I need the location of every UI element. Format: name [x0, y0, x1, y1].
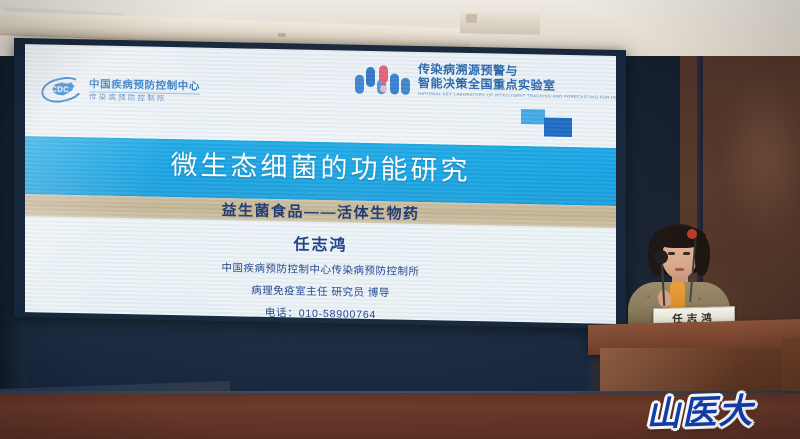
cdc-emblem-icon: CDC	[41, 76, 83, 103]
decorative-square-dark	[544, 117, 572, 137]
microphone-head-right	[687, 229, 697, 239]
projection-screen: CDC 中国疾病预防控制中心 传染病预防控制所	[14, 38, 626, 329]
cdc-acronym: CDC	[51, 86, 69, 94]
speaker-hair-right	[695, 236, 710, 276]
presentation-slide: CDC 中国疾病预防控制中心 传染病预防控制所	[25, 44, 616, 324]
decorative-square-light	[521, 109, 545, 124]
lab-bars-icon	[355, 62, 411, 95]
cdc-logo-line1: 中国疾病预防控制中心	[89, 79, 200, 92]
roller-marking	[278, 33, 286, 37]
cdc-logo-line2: 传染病预防控制所	[89, 93, 200, 103]
speaker-eye-right	[683, 252, 690, 255]
watermark: 山医大	[645, 383, 755, 436]
china-cdc-logo: CDC 中国疾病预防控制中心 传染病预防控制所	[41, 76, 200, 105]
microphone-head-left	[654, 250, 668, 264]
conference-photo-scene: CDC 中国疾病预防控制中心 传染病预防控制所	[0, 0, 800, 439]
speaker-mouth	[675, 268, 684, 271]
speaker-eye-left	[668, 252, 675, 255]
presenter-name: 任志鸿	[25, 225, 616, 261]
slide-header: CDC 中国疾病预防控制中心 传染病预防控制所	[25, 44, 616, 148]
roller-end-cap	[466, 14, 477, 23]
slide-body: 任志鸿 中国疾病预防控制中心传染病预防控制所 病理免疫室主任 研究员 博导 电话…	[25, 219, 616, 324]
national-key-lab-logo: 传染病溯源预警与 智能决策全国重点实验室 NATIONAL KEY LABORA…	[355, 61, 616, 102]
